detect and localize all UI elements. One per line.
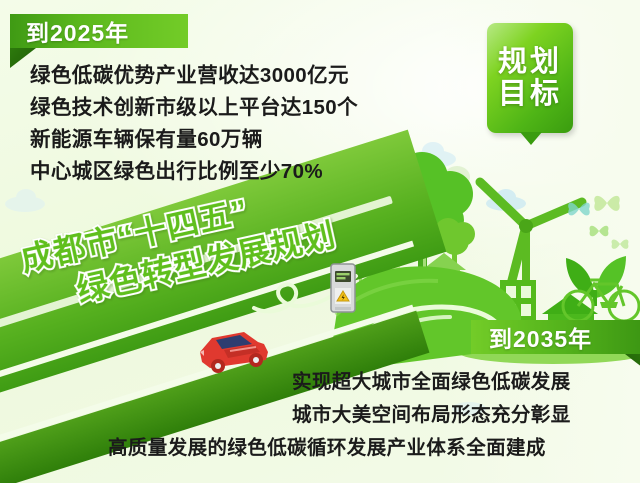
butterfly-icon (592, 190, 622, 216)
targets-2025-list: 绿色低碳优势产业营收达3000亿元 绿色技术创新市级以上平台达150个 新能源车… (30, 60, 358, 188)
car-icon (194, 326, 280, 378)
butterfly-icon (610, 236, 630, 252)
planning-goal-badge: 规划 目标 (487, 23, 573, 133)
infographic-poster: 到2025年 规划 目标 绿色低碳优势产业营收达3000亿元 绿色技术创新市级以… (0, 0, 640, 483)
banner-2035-label: 到2035年 (489, 320, 592, 354)
charging-station-icon (329, 262, 359, 318)
butterfly-icon (588, 222, 610, 240)
list-item: 绿色技术创新市级以上平台达150个 (30, 92, 358, 124)
badge-pointer-icon (520, 132, 542, 145)
banner-2035: 到2035年 (471, 320, 640, 354)
goal-badge-line2: 目标 (498, 78, 562, 110)
butterfly-icon (566, 198, 592, 220)
targets-2035-list: 实现超大城市全面绿色低碳发展 城市大美空间布局形态充分彰显 高质量发展的绿色低碳… (292, 366, 571, 465)
banner-2025-label: 到2025年 (26, 14, 129, 48)
cloud-icon (5, 196, 45, 212)
list-item: 绿色低碳优势产业营收达3000亿元 (30, 60, 358, 92)
banner-2025: 到2025年 (10, 14, 188, 48)
list-item: 实现超大城市全面绿色低碳发展 (292, 366, 571, 399)
list-item: 高质量发展的绿色低碳循环发展产业体系全面建成 (108, 432, 571, 465)
list-item: 新能源车辆保有量60万辆 (30, 124, 358, 156)
bicycle-icon (560, 266, 640, 326)
list-item: 城市大美空间布局形态充分彰显 (292, 399, 571, 432)
goal-badge-line1: 规划 (498, 46, 562, 78)
